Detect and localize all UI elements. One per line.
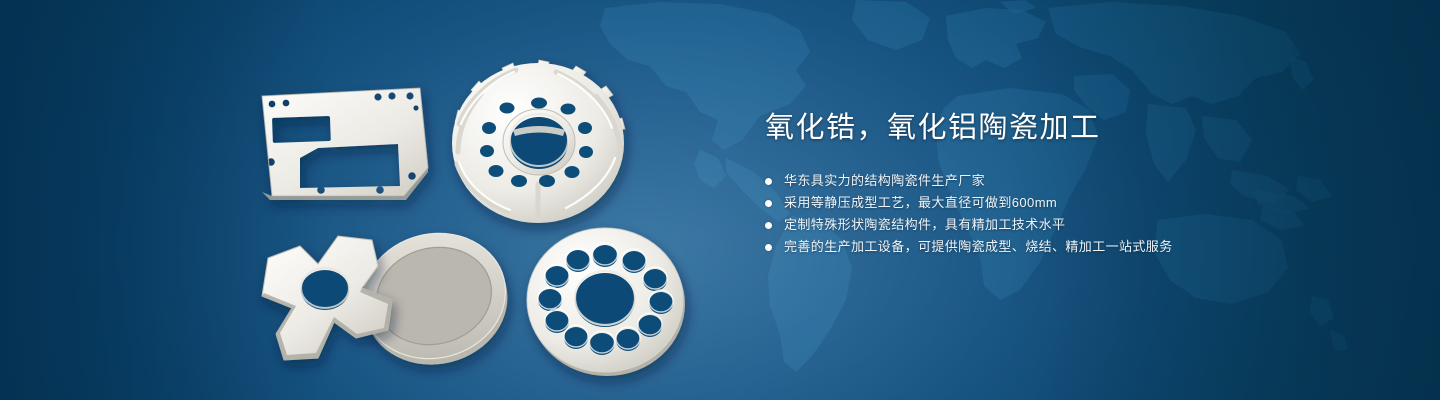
bullet-dot-icon (765, 200, 772, 207)
feature-text: 采用等静压成型工艺，最大直径可做到600mm (784, 192, 1057, 214)
list-item: 定制特殊形状陶瓷结构件，具有精加工技术水平 (765, 214, 1385, 236)
feature-text: 华东具实力的结构陶瓷件生产厂家 (784, 170, 985, 192)
list-item: 采用等静压成型工艺，最大直径可做到600mm (765, 192, 1385, 214)
banner-copy: 氧化锆，氧化铝陶瓷加工 华东具实力的结构陶瓷件生产厂家 采用等静压成型工艺，最大… (765, 108, 1385, 258)
ceramic-hole-disc-part (527, 228, 685, 376)
list-item: 完善的生产加工设备，可提供陶瓷成型、烧结、精加工一站式服务 (765, 236, 1385, 258)
hero-banner: 氧化锆，氧化铝陶瓷加工 华东具实力的结构陶瓷件生产厂家 采用等静压成型工艺，最大… (0, 0, 1440, 400)
feature-text: 定制特殊形状陶瓷结构件，具有精加工技术水平 (784, 214, 1065, 236)
feature-list: 华东具实力的结构陶瓷件生产厂家 采用等静压成型工艺，最大直径可做到600mm 定… (765, 170, 1385, 258)
page-title: 氧化锆，氧化铝陶瓷加工 (765, 108, 1385, 148)
list-item: 华东具实力的结构陶瓷件生产厂家 (765, 170, 1385, 192)
ceramic-plate-part (250, 80, 440, 210)
feature-text: 完善的生产加工设备，可提供陶瓷成型、烧结、精加工一站式服务 (784, 236, 1173, 258)
bullet-dot-icon (765, 222, 772, 229)
bullet-dot-icon (765, 178, 772, 185)
bullet-dot-icon (765, 244, 772, 251)
product-photo-group (0, 0, 740, 400)
ceramic-impeller-part (440, 55, 640, 235)
